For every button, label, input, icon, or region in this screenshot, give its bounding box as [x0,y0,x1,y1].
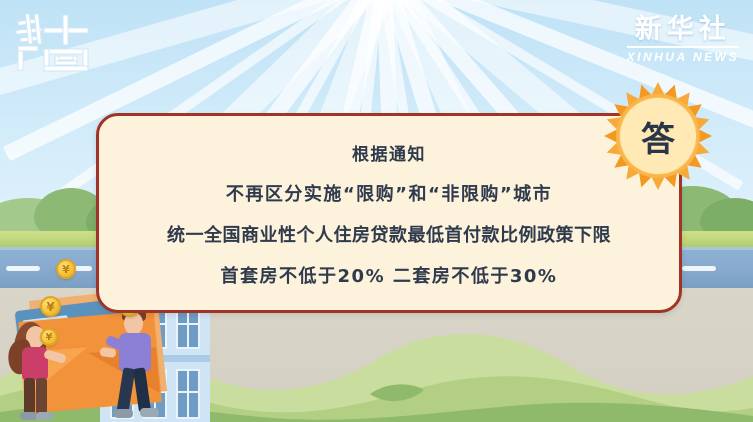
answer-badge-label: 答 [641,112,675,161]
person-man [110,306,176,422]
kepu-logo [14,12,96,74]
panel-line-4: 首套房不低于20% 二套房不低于30% [221,262,558,288]
infographic-canvas: ¥ ¥ ¥ ¥ ¥ 根据通知 不再区分实施“限购”和“非限购”城市 统一全国商业… [0,0,753,422]
coin-yen: ¥ [56,259,76,279]
xinhua-logo-rule [627,46,739,48]
answer-badge: 答 [604,82,712,190]
panel-line-1: 根据通知 [352,140,426,165]
answer-panel: 根据通知 不再区分实施“限购”和“非限购”城市 统一全国商业性个人住房贷款最低首… [96,113,682,313]
person-woman [8,318,70,422]
coin-yen: ¥ [40,296,61,317]
xinhua-logo-cn: 新华社 [627,16,739,43]
coin-yen: ¥ [40,328,58,346]
kepu-logo-icon [14,12,96,74]
panel-line-3: 统一全国商业性个人住房贷款最低首付款比例政策下限 [167,221,611,247]
xinhua-logo: 新华社 XINHUA NEWS [627,16,739,64]
xinhua-logo-en: XINHUA NEWS [627,50,739,64]
panel-line-2: 不再区分实施“限购”和“非限购”城市 [226,180,552,206]
